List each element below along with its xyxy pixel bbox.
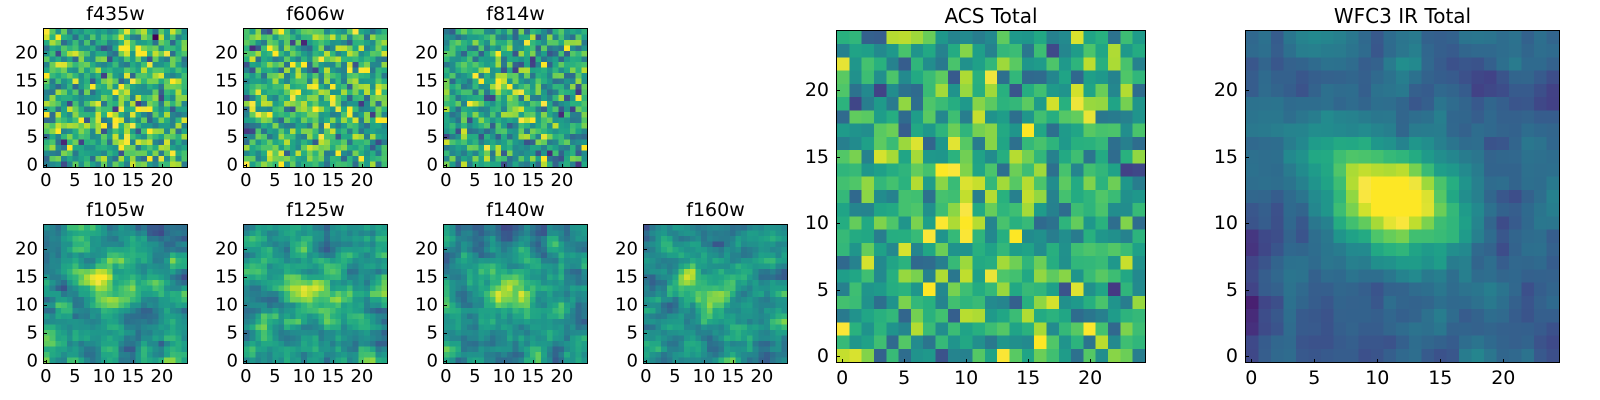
y-ticklabel-f814w-10: 10: [415, 99, 438, 120]
x-tick-f814w-15: [533, 164, 534, 168]
x-tick-f814w-10: [504, 164, 505, 168]
y-tick-wfc3-ir-total-20: [1245, 90, 1249, 91]
x-ticklabel-f160w-15: 15: [721, 366, 744, 387]
panel-acs-total: ACS Total0510152005101520: [836, 30, 1146, 363]
x-tick-f160w-20: [762, 360, 763, 364]
y-ticklabel-f606w-20: 20: [215, 43, 238, 64]
y-tick-acs-total-0: [836, 356, 840, 357]
y-ticklabel-f814w-0: 0: [427, 155, 438, 176]
y-tick-f160w-10: [643, 305, 647, 306]
y-ticklabel-f125w-20: 20: [215, 239, 238, 260]
x-ticklabel-f606w-5: 5: [269, 170, 280, 191]
y-ticklabel-f606w-10: 10: [215, 99, 238, 120]
x-tick-f140w-10: [504, 360, 505, 364]
x-tick-f140w-20: [562, 360, 563, 364]
y-tick-f606w-5: [243, 137, 247, 138]
y-ticklabel-acs-total-5: 5: [817, 279, 829, 301]
x-ticklabel-acs-total-20: 20: [1078, 367, 1102, 389]
x-ticklabel-f125w-0: 0: [240, 366, 251, 387]
x-tick-f140w-5: [475, 360, 476, 364]
x-tick-acs-total-5: [904, 359, 905, 363]
panel-f814w: f814w0510152005101520: [443, 28, 588, 168]
heatmap-canvas-f606w: [244, 29, 387, 167]
x-ticklabel-wfc3-ir-total-15: 15: [1428, 367, 1452, 389]
x-ticklabel-wfc3-ir-total-5: 5: [1308, 367, 1320, 389]
heatmap-f606w: [243, 28, 388, 168]
panel-f125w: f125w0510152005101520: [243, 224, 388, 364]
y-tick-f435w-15: [43, 81, 47, 82]
x-ticklabel-f105w-10: 10: [92, 366, 115, 387]
y-ticklabel-f105w-5: 5: [27, 323, 38, 344]
x-ticklabel-f814w-0: 0: [440, 170, 451, 191]
panel-title-f435w: f435w: [43, 3, 188, 25]
x-ticklabel-wfc3-ir-total-0: 0: [1245, 367, 1257, 389]
y-ticklabel-f606w-5: 5: [227, 127, 238, 148]
heatmap-acs-total: [836, 30, 1146, 363]
x-ticklabel-f160w-20: 20: [750, 366, 773, 387]
y-ticklabel-f125w-15: 15: [215, 267, 238, 288]
x-ticklabel-f105w-20: 20: [150, 366, 173, 387]
y-tick-f160w-0: [643, 361, 647, 362]
y-ticklabel-f435w-15: 15: [15, 71, 38, 92]
y-ticklabel-wfc3-ir-total-5: 5: [1226, 279, 1238, 301]
y-ticklabel-f105w-15: 15: [15, 267, 38, 288]
x-tick-acs-total-20: [1090, 359, 1091, 363]
x-ticklabel-f125w-15: 15: [321, 366, 344, 387]
heatmap-wfc3-ir-total: [1245, 30, 1560, 363]
x-tick-wfc3-ir-total-5: [1314, 359, 1315, 363]
x-ticklabel-f435w-5: 5: [69, 170, 80, 191]
x-tick-f435w-15: [133, 164, 134, 168]
heatmap-f160w: [643, 224, 788, 364]
x-ticklabel-f140w-10: 10: [492, 366, 515, 387]
y-ticklabel-f125w-5: 5: [227, 323, 238, 344]
y-tick-f435w-10: [43, 109, 47, 110]
y-ticklabel-wfc3-ir-total-20: 20: [1214, 79, 1238, 101]
x-ticklabel-wfc3-ir-total-10: 10: [1365, 367, 1389, 389]
y-tick-f105w-0: [43, 361, 47, 362]
heatmap-f435w: [43, 28, 188, 168]
panel-title-f160w: f160w: [643, 199, 788, 221]
y-tick-acs-total-15: [836, 157, 840, 158]
x-tick-f105w-15: [133, 360, 134, 364]
panel-wfc3-ir-total: WFC3 IR Total0510152005101520: [1245, 30, 1560, 363]
heatmap-f105w: [43, 224, 188, 364]
y-tick-f606w-0: [243, 165, 247, 166]
panel-title-wfc3-ir-total: WFC3 IR Total: [1245, 4, 1560, 28]
panel-title-f125w: f125w: [243, 199, 388, 221]
y-ticklabel-f160w-20: 20: [615, 239, 638, 260]
panel-title-f105w: f105w: [43, 199, 188, 221]
heatmap-f814w: [443, 28, 588, 168]
x-ticklabel-f606w-15: 15: [321, 170, 344, 191]
x-tick-acs-total-0: [842, 359, 843, 363]
x-ticklabel-f160w-10: 10: [692, 366, 715, 387]
panel-f105w: f105w0510152005101520: [43, 224, 188, 364]
panel-title-f814w: f814w: [443, 3, 588, 25]
x-tick-f125w-20: [362, 360, 363, 364]
y-tick-f105w-20: [43, 249, 47, 250]
x-ticklabel-f160w-0: 0: [640, 366, 651, 387]
x-tick-f140w-15: [533, 360, 534, 364]
x-ticklabel-f606w-0: 0: [240, 170, 251, 191]
x-tick-f435w-10: [104, 164, 105, 168]
x-tick-f125w-5: [275, 360, 276, 364]
y-ticklabel-wfc3-ir-total-0: 0: [1226, 345, 1238, 367]
y-ticklabel-acs-total-0: 0: [817, 345, 829, 367]
x-ticklabel-f140w-0: 0: [440, 366, 451, 387]
x-tick-f606w-10: [304, 164, 305, 168]
x-tick-f814w-5: [475, 164, 476, 168]
y-tick-f814w-5: [443, 137, 447, 138]
y-tick-f105w-5: [43, 333, 47, 334]
y-ticklabel-f140w-10: 10: [415, 295, 438, 316]
x-tick-f606w-15: [333, 164, 334, 168]
y-tick-f140w-5: [443, 333, 447, 334]
x-tick-f435w-20: [162, 164, 163, 168]
y-ticklabel-f814w-20: 20: [415, 43, 438, 64]
y-ticklabel-f140w-5: 5: [427, 323, 438, 344]
x-tick-f125w-15: [333, 360, 334, 364]
y-tick-f814w-15: [443, 81, 447, 82]
x-ticklabel-f606w-10: 10: [292, 170, 315, 191]
x-ticklabel-f435w-15: 15: [121, 170, 144, 191]
y-tick-f105w-15: [43, 277, 47, 278]
y-ticklabel-f140w-0: 0: [427, 351, 438, 372]
x-ticklabel-f125w-20: 20: [350, 366, 373, 387]
y-ticklabel-f814w-5: 5: [427, 127, 438, 148]
y-tick-f814w-20: [443, 53, 447, 54]
x-tick-acs-total-15: [1028, 359, 1029, 363]
y-ticklabel-f125w-0: 0: [227, 351, 238, 372]
y-tick-f435w-0: [43, 165, 47, 166]
y-tick-acs-total-5: [836, 290, 840, 291]
x-tick-f606w-5: [275, 164, 276, 168]
y-ticklabel-f606w-15: 15: [215, 71, 238, 92]
panel-title-f606w: f606w: [243, 3, 388, 25]
x-tick-f125w-10: [304, 360, 305, 364]
y-tick-wfc3-ir-total-15: [1245, 157, 1249, 158]
y-tick-f814w-0: [443, 165, 447, 166]
y-ticklabel-f160w-0: 0: [627, 351, 638, 372]
x-tick-wfc3-ir-total-15: [1440, 359, 1441, 363]
y-ticklabel-f160w-15: 15: [615, 267, 638, 288]
panel-f435w: f435w0510152005101520: [43, 28, 188, 168]
x-tick-f160w-5: [675, 360, 676, 364]
y-tick-f160w-15: [643, 277, 647, 278]
panel-title-acs-total: ACS Total: [836, 4, 1146, 28]
y-tick-f435w-5: [43, 137, 47, 138]
heatmap-canvas-f435w: [44, 29, 187, 167]
heatmap-canvas-f814w: [444, 29, 587, 167]
x-tick-f160w-10: [704, 360, 705, 364]
x-tick-wfc3-ir-total-0: [1251, 359, 1252, 363]
y-ticklabel-wfc3-ir-total-10: 10: [1214, 212, 1238, 234]
y-tick-f125w-5: [243, 333, 247, 334]
y-tick-wfc3-ir-total-10: [1245, 223, 1249, 224]
x-tick-wfc3-ir-total-20: [1503, 359, 1504, 363]
y-tick-f606w-10: [243, 109, 247, 110]
x-ticklabel-f140w-15: 15: [521, 366, 544, 387]
y-ticklabel-f160w-5: 5: [627, 323, 638, 344]
y-ticklabel-f435w-0: 0: [27, 155, 38, 176]
x-tick-f606w-20: [362, 164, 363, 168]
y-tick-f125w-0: [243, 361, 247, 362]
y-tick-f814w-10: [443, 109, 447, 110]
y-tick-acs-total-10: [836, 223, 840, 224]
x-ticklabel-f160w-5: 5: [669, 366, 680, 387]
y-tick-f140w-20: [443, 249, 447, 250]
heatmap-canvas-f160w: [644, 225, 787, 363]
y-tick-acs-total-20: [836, 90, 840, 91]
x-ticklabel-f606w-20: 20: [350, 170, 373, 191]
y-ticklabel-acs-total-10: 10: [805, 212, 829, 234]
y-ticklabel-f814w-15: 15: [415, 71, 438, 92]
x-ticklabel-acs-total-0: 0: [836, 367, 848, 389]
y-ticklabel-f160w-10: 10: [615, 295, 638, 316]
y-ticklabel-wfc3-ir-total-15: 15: [1214, 146, 1238, 168]
x-ticklabel-f105w-0: 0: [40, 366, 51, 387]
y-ticklabel-f105w-10: 10: [15, 295, 38, 316]
y-ticklabel-acs-total-20: 20: [805, 79, 829, 101]
y-ticklabel-f140w-15: 15: [415, 267, 438, 288]
x-tick-f435w-5: [75, 164, 76, 168]
x-tick-acs-total-10: [966, 359, 967, 363]
y-tick-wfc3-ir-total-5: [1245, 290, 1249, 291]
heatmap-f140w: [443, 224, 588, 364]
x-ticklabel-f140w-20: 20: [550, 366, 573, 387]
x-tick-f814w-20: [562, 164, 563, 168]
x-tick-f105w-5: [75, 360, 76, 364]
x-ticklabel-f105w-15: 15: [121, 366, 144, 387]
y-tick-f606w-20: [243, 53, 247, 54]
x-ticklabel-f435w-10: 10: [92, 170, 115, 191]
y-tick-f125w-10: [243, 305, 247, 306]
heatmap-canvas-acs-total: [837, 31, 1145, 362]
y-tick-f125w-20: [243, 249, 247, 250]
x-ticklabel-f435w-20: 20: [150, 170, 173, 191]
heatmap-canvas-f140w: [444, 225, 587, 363]
y-ticklabel-f140w-20: 20: [415, 239, 438, 260]
heatmap-canvas-f105w: [44, 225, 187, 363]
x-ticklabel-f814w-15: 15: [521, 170, 544, 191]
panel-title-f140w: f140w: [443, 199, 588, 221]
x-ticklabel-f435w-0: 0: [40, 170, 51, 191]
heatmap-f125w: [243, 224, 388, 364]
y-tick-f160w-20: [643, 249, 647, 250]
y-tick-f125w-15: [243, 277, 247, 278]
y-ticklabel-f606w-0: 0: [227, 155, 238, 176]
x-ticklabel-acs-total-10: 10: [954, 367, 978, 389]
x-tick-f105w-20: [162, 360, 163, 364]
y-tick-f140w-0: [443, 361, 447, 362]
panel-f606w: f606w0510152005101520: [243, 28, 388, 168]
x-ticklabel-acs-total-15: 15: [1016, 367, 1040, 389]
x-tick-f160w-15: [733, 360, 734, 364]
x-ticklabel-f105w-5: 5: [69, 366, 80, 387]
y-tick-f435w-20: [43, 53, 47, 54]
y-tick-f140w-10: [443, 305, 447, 306]
x-tick-f105w-10: [104, 360, 105, 364]
y-tick-f105w-10: [43, 305, 47, 306]
heatmap-canvas-f125w: [244, 225, 387, 363]
x-ticklabel-acs-total-5: 5: [898, 367, 910, 389]
y-ticklabel-acs-total-15: 15: [805, 146, 829, 168]
y-tick-wfc3-ir-total-0: [1245, 356, 1249, 357]
y-ticklabel-f105w-0: 0: [27, 351, 38, 372]
x-ticklabel-f814w-20: 20: [550, 170, 573, 191]
y-tick-f160w-5: [643, 333, 647, 334]
y-tick-f140w-15: [443, 277, 447, 278]
heatmap-canvas-wfc3-ir-total: [1246, 31, 1559, 362]
x-ticklabel-f125w-5: 5: [269, 366, 280, 387]
x-ticklabel-wfc3-ir-total-20: 20: [1491, 367, 1515, 389]
y-ticklabel-f435w-5: 5: [27, 127, 38, 148]
y-ticklabel-f125w-10: 10: [215, 295, 238, 316]
x-ticklabel-f140w-5: 5: [469, 366, 480, 387]
x-tick-wfc3-ir-total-10: [1377, 359, 1378, 363]
panel-f160w: f160w0510152005101520: [643, 224, 788, 364]
x-ticklabel-f125w-10: 10: [292, 366, 315, 387]
y-ticklabel-f435w-10: 10: [15, 99, 38, 120]
y-ticklabel-f105w-20: 20: [15, 239, 38, 260]
y-ticklabel-f435w-20: 20: [15, 43, 38, 64]
x-ticklabel-f814w-10: 10: [492, 170, 515, 191]
panel-f140w: f140w0510152005101520: [443, 224, 588, 364]
x-ticklabel-f814w-5: 5: [469, 170, 480, 191]
y-tick-f606w-15: [243, 81, 247, 82]
